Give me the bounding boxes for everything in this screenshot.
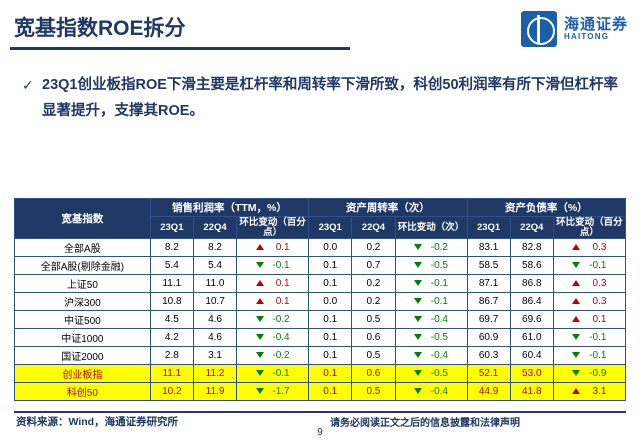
header-group-asset-turnover: 资产周转率（次） (309, 199, 467, 217)
cell-value: 69.7 (467, 311, 510, 329)
cell-value: 58.6 (510, 257, 553, 275)
cell-value: 11.0 (193, 275, 236, 293)
cell-value: -1.7 (268, 386, 290, 397)
table-row: 科创5010.211.9-1.70.10.5-0.444.941.83.1 (15, 383, 626, 401)
cell-value: -0.1 (584, 350, 606, 361)
table-row: 上证5011.111.00.10.10.2-0.187.186.80.3 (15, 275, 626, 293)
cell-value: -0.5 (426, 332, 448, 343)
cell-value: 0.5 (352, 347, 395, 365)
cell-value: 44.9 (467, 383, 510, 401)
header-group-leverage: 资产负债率（%） (467, 199, 626, 217)
brand-logo-text: 海通证券 HAITONG (564, 17, 628, 41)
cell-value: 60.4 (510, 347, 553, 365)
arrow-down-icon (414, 388, 422, 394)
cell-value: 3.1 (193, 347, 236, 365)
cell-value: -0.1 (268, 368, 290, 379)
cell-change: 0.1 (237, 293, 309, 311)
arrow-down-icon (414, 352, 422, 358)
cell-value: 0.5 (352, 311, 395, 329)
roe-breakdown-table: 宽基指数 销售利润率（TTM，%） 资产周转率（次） 资产负债率（%） 23Q1… (14, 198, 626, 401)
cell-change: 0.1 (237, 239, 309, 257)
arrow-down-icon (256, 352, 264, 358)
cell-value: 0.2 (352, 275, 395, 293)
cell-value: -0.4 (426, 350, 448, 361)
cell-value: 0.1 (268, 278, 290, 289)
row-label: 中证1000 (15, 329, 151, 347)
arrow-down-icon (414, 316, 422, 322)
cell-value: -0.4 (426, 314, 448, 325)
cell-value: -0.1 (584, 260, 606, 271)
cell-change: -0.1 (553, 329, 625, 347)
arrow-down-icon (572, 262, 580, 268)
cell-value: 0.1 (309, 275, 352, 293)
cell-change: -0.5 (395, 329, 467, 347)
page-title: 宽基指数ROE拆分 (14, 12, 186, 42)
arrow-up-icon (256, 244, 264, 250)
cell-value: 8.2 (150, 239, 193, 257)
cell-value: 10.7 (193, 293, 236, 311)
cell-change: -0.1 (237, 365, 309, 383)
cell-change: -0.4 (395, 383, 467, 401)
arrow-up-icon (572, 280, 580, 286)
cell-value: 58.5 (467, 257, 510, 275)
table-head: 宽基指数 销售利润率（TTM，%） 资产周转率（次） 资产负债率（%） 23Q1… (15, 199, 626, 239)
brand-name-cn: 海通证券 (564, 17, 628, 33)
cell-value: -0.1 (268, 260, 290, 271)
cell-value: 60.3 (467, 347, 510, 365)
cell-value: 11.9 (193, 383, 236, 401)
cell-value: 0.1 (268, 296, 290, 307)
arrow-up-icon (572, 298, 580, 304)
row-label: 沪深300 (15, 293, 151, 311)
cell-value: 0.5 (352, 383, 395, 401)
cell-change: 0.3 (553, 275, 625, 293)
row-label: 全部A股 (15, 239, 151, 257)
cell-value: 2.8 (150, 347, 193, 365)
subheader-6: 23Q1 (467, 217, 510, 239)
table-head-row-groups: 宽基指数 销售利润率（TTM，%） 资产周转率（次） 资产负债率（%） (15, 199, 626, 217)
arrow-down-icon (414, 298, 422, 304)
brand-logo: 海通证券 HAITONG (521, 10, 628, 48)
cell-value: 0.1 (584, 314, 606, 325)
arrow-down-icon (572, 352, 580, 358)
cell-change: -1.7 (237, 383, 309, 401)
arrow-down-icon (414, 370, 422, 376)
cell-value: 41.8 (510, 383, 553, 401)
cell-value: -0.5 (426, 260, 448, 271)
arrow-down-icon (414, 280, 422, 286)
table-row: 中证10004.24.6-0.40.10.6-0.560.961.0-0.1 (15, 329, 626, 347)
cell-value: 53.0 (510, 365, 553, 383)
cell-value: 69.6 (510, 311, 553, 329)
cell-value: -0.1 (584, 332, 606, 343)
cell-value: 4.5 (150, 311, 193, 329)
cell-value: 4.6 (193, 329, 236, 347)
cell-value: 10.2 (150, 383, 193, 401)
cell-change: -0.2 (395, 239, 467, 257)
check-icon: ✓ (22, 72, 34, 98)
cell-value: 52.1 (467, 365, 510, 383)
cell-value: 11.2 (193, 365, 236, 383)
cell-value: 5.4 (193, 257, 236, 275)
header-corner: 宽基指数 (15, 199, 151, 239)
subheader-2: 环比变动（百分点） (237, 217, 309, 239)
cell-value: 86.7 (467, 293, 510, 311)
arrow-down-icon (414, 334, 422, 340)
cell-change: -0.5 (395, 257, 467, 275)
row-label: 科创50 (15, 383, 151, 401)
brand-name-en: HAITONG (564, 33, 628, 41)
cell-value: 5.4 (150, 257, 193, 275)
cell-change: -0.4 (395, 311, 467, 329)
key-point-bullet: ✓ 23Q1创业板指ROE下滑主要是杠杆率和周转率下滑所致，科创50利润率有所下… (22, 72, 622, 124)
cell-value: -0.2 (426, 242, 448, 253)
subheader-5: 环比变动（次） (395, 217, 467, 239)
subheader-7: 22Q4 (510, 217, 553, 239)
arrow-up-icon (256, 280, 264, 286)
cell-value: 0.1 (309, 365, 352, 383)
arrow-down-icon (256, 334, 264, 340)
cell-value: 0.7 (352, 257, 395, 275)
cell-value: 61.0 (510, 329, 553, 347)
cell-change: -0.2 (237, 311, 309, 329)
table-body: 全部A股8.28.20.10.00.2-0.283.182.80.3全部A股(剔… (15, 239, 626, 401)
cell-change: -0.2 (237, 347, 309, 365)
haitong-logo-icon (521, 11, 557, 47)
cell-value: 0.6 (352, 365, 395, 383)
cell-value: 8.2 (193, 239, 236, 257)
cell-change: -0.4 (395, 347, 467, 365)
table-row: 全部A股(剔除金融)5.45.4-0.10.10.7-0.558.558.6-0… (15, 257, 626, 275)
key-point-text: 23Q1创业板指ROE下滑主要是杠杆率和周转率下滑所致，科创50利润率有所下滑但… (42, 72, 622, 124)
cell-value: -0.2 (268, 350, 290, 361)
cell-value: 0.1 (309, 329, 352, 347)
cell-value: 0.1 (309, 347, 352, 365)
cell-change: -0.1 (395, 293, 467, 311)
cell-change: 3.1 (553, 383, 625, 401)
row-label: 创业板指 (15, 365, 151, 383)
cell-change: -0.1 (395, 275, 467, 293)
subheader-3: 23Q1 (309, 217, 352, 239)
cell-change: -0.5 (395, 365, 467, 383)
subheader-4: 22Q4 (352, 217, 395, 239)
cell-value: 0.1 (309, 311, 352, 329)
subheader-8: 环比变动（百分点） (553, 217, 625, 239)
row-label: 全部A股(剔除金融) (15, 257, 151, 275)
arrow-down-icon (256, 388, 264, 394)
cell-change: -0.1 (553, 257, 625, 275)
cell-value: 86.4 (510, 293, 553, 311)
cell-change: 0.1 (237, 275, 309, 293)
cell-value: 4.6 (193, 311, 236, 329)
page-number: 9 (0, 427, 640, 438)
cell-value: 10.8 (150, 293, 193, 311)
cell-value: 86.8 (510, 275, 553, 293)
arrow-down-icon (414, 244, 422, 250)
cell-value: -0.4 (426, 386, 448, 397)
slide-header: 宽基指数ROE拆分 海通证券 HAITONG (0, 0, 640, 58)
cell-value: 0.6 (352, 329, 395, 347)
cell-change: -0.4 (237, 329, 309, 347)
table-row: 中证5004.54.6-0.20.10.5-0.469.769.60.1 (15, 311, 626, 329)
cell-value: 0.0 (309, 239, 352, 257)
cell-value: -0.5 (426, 368, 448, 379)
arrow-up-icon (256, 298, 264, 304)
cell-value: 11.1 (150, 275, 193, 293)
cell-change: -0.9 (553, 365, 625, 383)
cell-value: -0.2 (268, 314, 290, 325)
cell-value: -0.1 (426, 278, 448, 289)
cell-value: 0.2 (352, 239, 395, 257)
subheader-1: 22Q4 (193, 217, 236, 239)
cell-value: 0.2 (352, 293, 395, 311)
row-label: 上证50 (15, 275, 151, 293)
cell-change: -0.1 (237, 257, 309, 275)
data-table: 宽基指数 销售利润率（TTM，%） 资产周转率（次） 资产负债率（%） 23Q1… (14, 198, 626, 401)
arrow-up-icon (572, 388, 580, 394)
table-row: 沪深30010.810.70.10.00.2-0.186.786.40.3 (15, 293, 626, 311)
table-row: 全部A股8.28.20.10.00.2-0.283.182.80.3 (15, 239, 626, 257)
header-group-profit-margin: 销售利润率（TTM，%） (150, 199, 308, 217)
cell-value: -0.1 (426, 296, 448, 307)
cell-value: 87.1 (467, 275, 510, 293)
subheader-0: 23Q1 (150, 217, 193, 239)
cell-value: 0.1 (309, 383, 352, 401)
cell-value: 60.9 (467, 329, 510, 347)
cell-value: -0.9 (584, 368, 606, 379)
cell-change: 0.3 (553, 293, 625, 311)
arrow-down-icon (572, 334, 580, 340)
table-row: 国证20002.83.1-0.20.10.5-0.460.360.4-0.1 (15, 347, 626, 365)
arrow-down-icon (256, 316, 264, 322)
cell-change: -0.1 (553, 347, 625, 365)
cell-value: 0.3 (584, 278, 606, 289)
arrow-down-icon (256, 262, 264, 268)
cell-value: 11.1 (150, 365, 193, 383)
table-row: 创业板指11.111.2-0.10.10.6-0.552.153.0-0.9 (15, 365, 626, 383)
cell-value: 82.8 (510, 239, 553, 257)
arrow-up-icon (572, 244, 580, 250)
cell-value: 0.1 (268, 242, 290, 253)
cell-value: 0.3 (584, 296, 606, 307)
title-underline (10, 47, 350, 50)
cell-value: 0.1 (309, 257, 352, 275)
footer-divider (14, 411, 626, 413)
row-label: 中证500 (15, 311, 151, 329)
cell-value: 83.1 (467, 239, 510, 257)
cell-change: 0.3 (553, 239, 625, 257)
cell-value: 4.2 (150, 329, 193, 347)
cell-value: 3.1 (584, 386, 606, 397)
cell-value: -0.4 (268, 332, 290, 343)
arrow-down-icon (414, 262, 422, 268)
row-label: 国证2000 (15, 347, 151, 365)
arrow-down-icon (256, 370, 264, 376)
cell-value: 0.3 (584, 242, 606, 253)
arrow-up-icon (572, 316, 580, 322)
cell-change: 0.1 (553, 311, 625, 329)
cell-value: 0.0 (309, 293, 352, 311)
arrow-down-icon (572, 370, 580, 376)
